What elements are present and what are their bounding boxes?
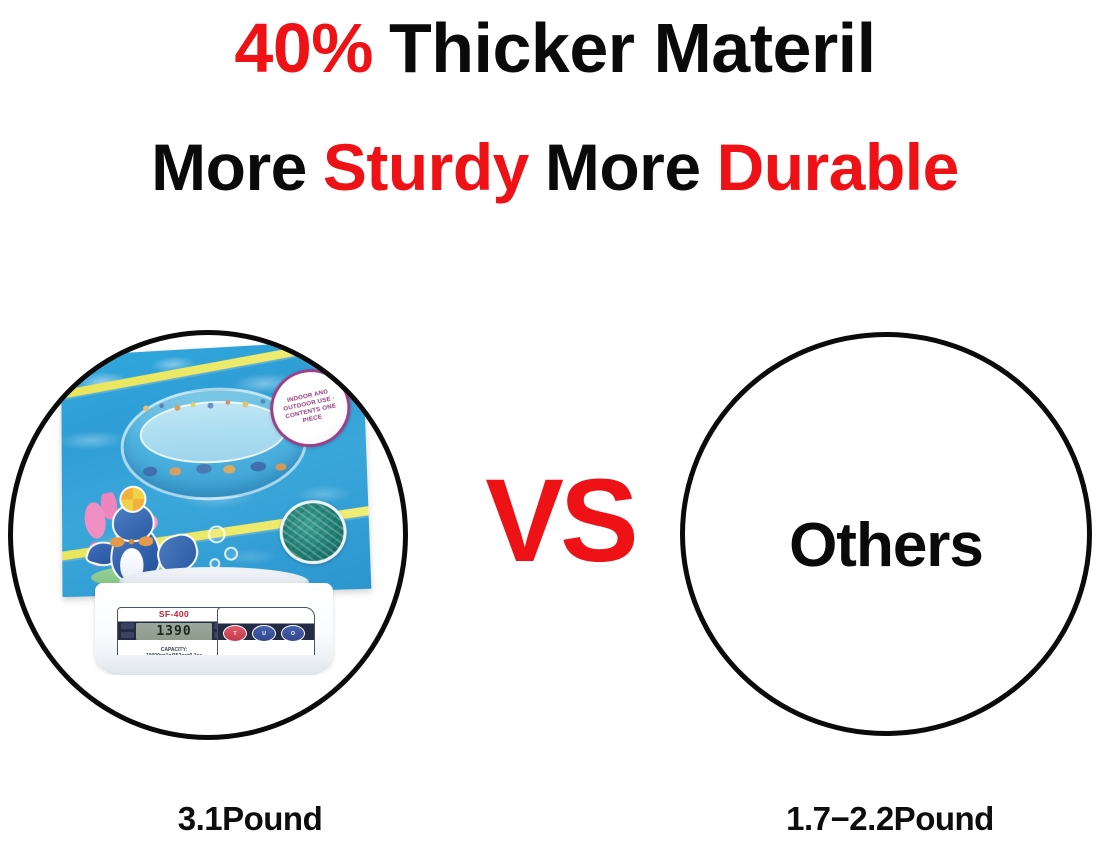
pool-product-box: INDOOR AND OUTDOOR USE · CONTENTS ONE PI…: [61, 339, 371, 597]
lcd-indicator-tag: [121, 623, 134, 629]
scale-lcd-screen: 1390: [136, 623, 212, 640]
scale-tare-button[interactable]: T: [223, 625, 247, 642]
kitchen-scale: SF-400 1390 CAPACITY: 10000g±1g/352oz±0.…: [95, 567, 333, 687]
lcd-indicator-tag: [121, 632, 134, 638]
comparison-row: INDOOR AND OUTDOOR USE · CONTENTS ONE PI…: [0, 0, 1110, 846]
scale-button-panel: T U O: [217, 607, 315, 661]
our-product-weight-label: 3.1Pound: [70, 800, 430, 838]
scale-display-panel: SF-400 1390 CAPACITY: 10000g±1g/352oz±0.…: [117, 607, 231, 661]
others-weight-label: 1.7−2.2Pound: [690, 800, 1090, 838]
product-photo: INDOOR AND OUTDOOR USE · CONTENTS ONE PI…: [13, 335, 408, 740]
scale-power-button[interactable]: O: [281, 625, 305, 642]
box-badge-text: INDOOR AND OUTDOOR USE · CONTENTS ONE PI…: [271, 385, 350, 431]
scale-brand-label: SF-400: [118, 609, 230, 619]
vs-label: VS: [450, 462, 670, 580]
scale-unit-button[interactable]: U: [252, 625, 276, 642]
scale-button-group: T U O: [223, 625, 305, 642]
our-product-circle: INDOOR AND OUTDOOR USE · CONTENTS ONE PI…: [8, 330, 408, 740]
scale-base: [101, 655, 327, 675]
others-circle: Others: [680, 332, 1092, 736]
others-label: Others: [789, 510, 983, 581]
scale-body: SF-400 1390 CAPACITY: 10000g±1g/352oz±0.…: [95, 583, 333, 669]
scale-weight-reading: 1390: [156, 624, 191, 639]
seal-bowtie: [110, 534, 153, 550]
